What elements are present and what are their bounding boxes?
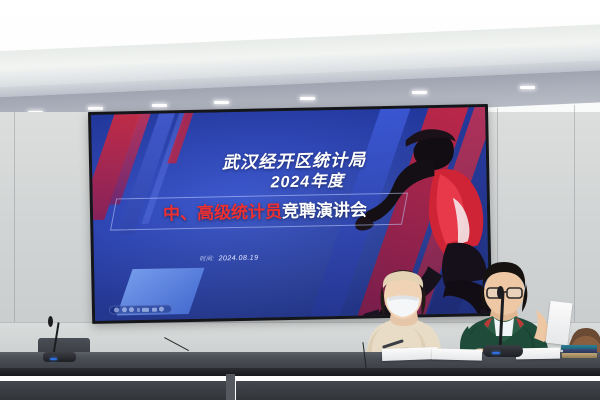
microphone-base[interactable] — [43, 352, 76, 362]
table-modesty-panel — [0, 381, 226, 400]
microphone-led-icon — [50, 358, 57, 360]
downlight-icon — [88, 107, 103, 110]
close-icon[interactable] — [159, 307, 164, 312]
wall-seam — [574, 105, 575, 335]
downlight-icon — [152, 104, 167, 107]
microphone-led-icon — [492, 352, 500, 354]
table-modesty-panel — [236, 381, 600, 400]
downlight-icon — [412, 91, 427, 94]
microphone-base[interactable] — [483, 345, 523, 357]
screen-share-icon[interactable] — [142, 307, 149, 311]
date-value: 2024.08.19 — [218, 255, 258, 263]
downlight-icon — [520, 86, 535, 89]
conference-room-photo: 武汉经开区统计局 2024年度 中、高级统计员竞聘演讲会 时间:2024.08.… — [0, 0, 600, 400]
window-icon[interactable] — [136, 308, 139, 312]
table-leg — [226, 374, 235, 400]
table-front-edge — [0, 368, 600, 376]
microphone-capsule-icon — [48, 316, 53, 327]
subtitle-red-text: 中、高级统计员 — [163, 202, 282, 223]
printed-documents[interactable] — [382, 347, 438, 361]
microphone-capsule-icon — [497, 286, 504, 299]
stacked-notebooks[interactable] — [562, 353, 597, 358]
downlight-icon — [300, 97, 315, 100]
back-icon[interactable] — [114, 307, 119, 312]
date-label: 时间: — [199, 256, 214, 262]
screen-floating-toolbar[interactable] — [109, 304, 172, 314]
delete-icon[interactable] — [151, 307, 156, 311]
pen-icon[interactable] — [129, 307, 134, 312]
printed-documents[interactable] — [432, 348, 482, 360]
subtitle-white-text: 竞聘演讲会 — [282, 200, 367, 221]
downlight-icon — [214, 101, 229, 104]
refresh-icon[interactable] — [121, 307, 126, 312]
